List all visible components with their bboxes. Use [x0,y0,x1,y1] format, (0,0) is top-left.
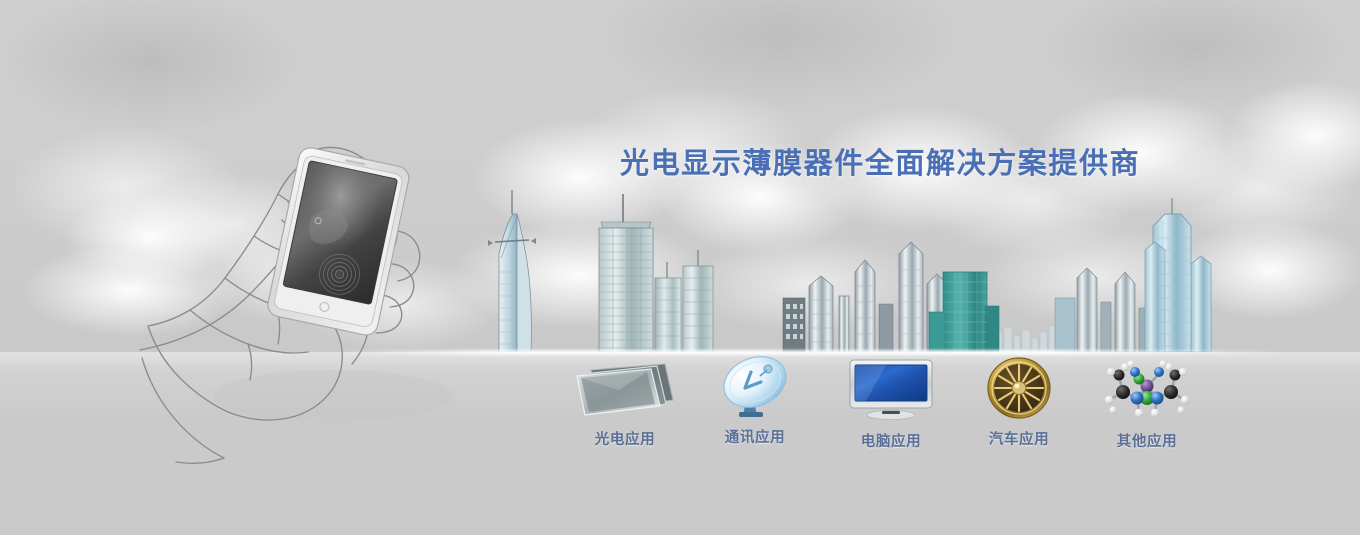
app-item-other[interactable]: 其他应用 [1088,358,1206,451]
app-item-computer[interactable]: 电脑应用 [832,358,950,451]
alloy-wheel-icon [960,356,1078,418]
page-title: 光电显示薄膜器件全面解决方案提供商 [620,140,1140,182]
app-label-automotive: 汽车应用 [960,428,1078,449]
glass-film-sheets-icon [566,356,684,418]
smartphone-device [266,146,411,338]
app-label-computer: 电脑应用 [832,430,950,451]
application-icons-row: 光电应用 [560,356,1200,468]
app-item-automotive[interactable]: 汽车应用 [960,356,1078,449]
main-tower [599,194,653,352]
satellite-dish-icon [696,354,814,416]
app-item-communication[interactable]: 通讯应用 [696,354,814,447]
app-label-other: 其他应用 [1088,430,1206,451]
app-item-optoelectronic[interactable]: 光电应用 [566,356,684,449]
city-skyline-illustration [455,180,1215,358]
app-label-communication: 通讯应用 [696,426,814,447]
midrise-cluster [655,250,713,352]
molecule-model-icon [1088,358,1206,420]
app-label-optoelectronic: 光电应用 [566,428,684,449]
hero-banner: 光电显示薄膜器件全面解决方案提供商 [0,0,1360,535]
glass-tower-cluster [1055,198,1211,352]
lcd-monitor-icon [832,358,950,420]
sail-tower [488,190,536,352]
hand-holding-phone-sketch [128,128,468,488]
